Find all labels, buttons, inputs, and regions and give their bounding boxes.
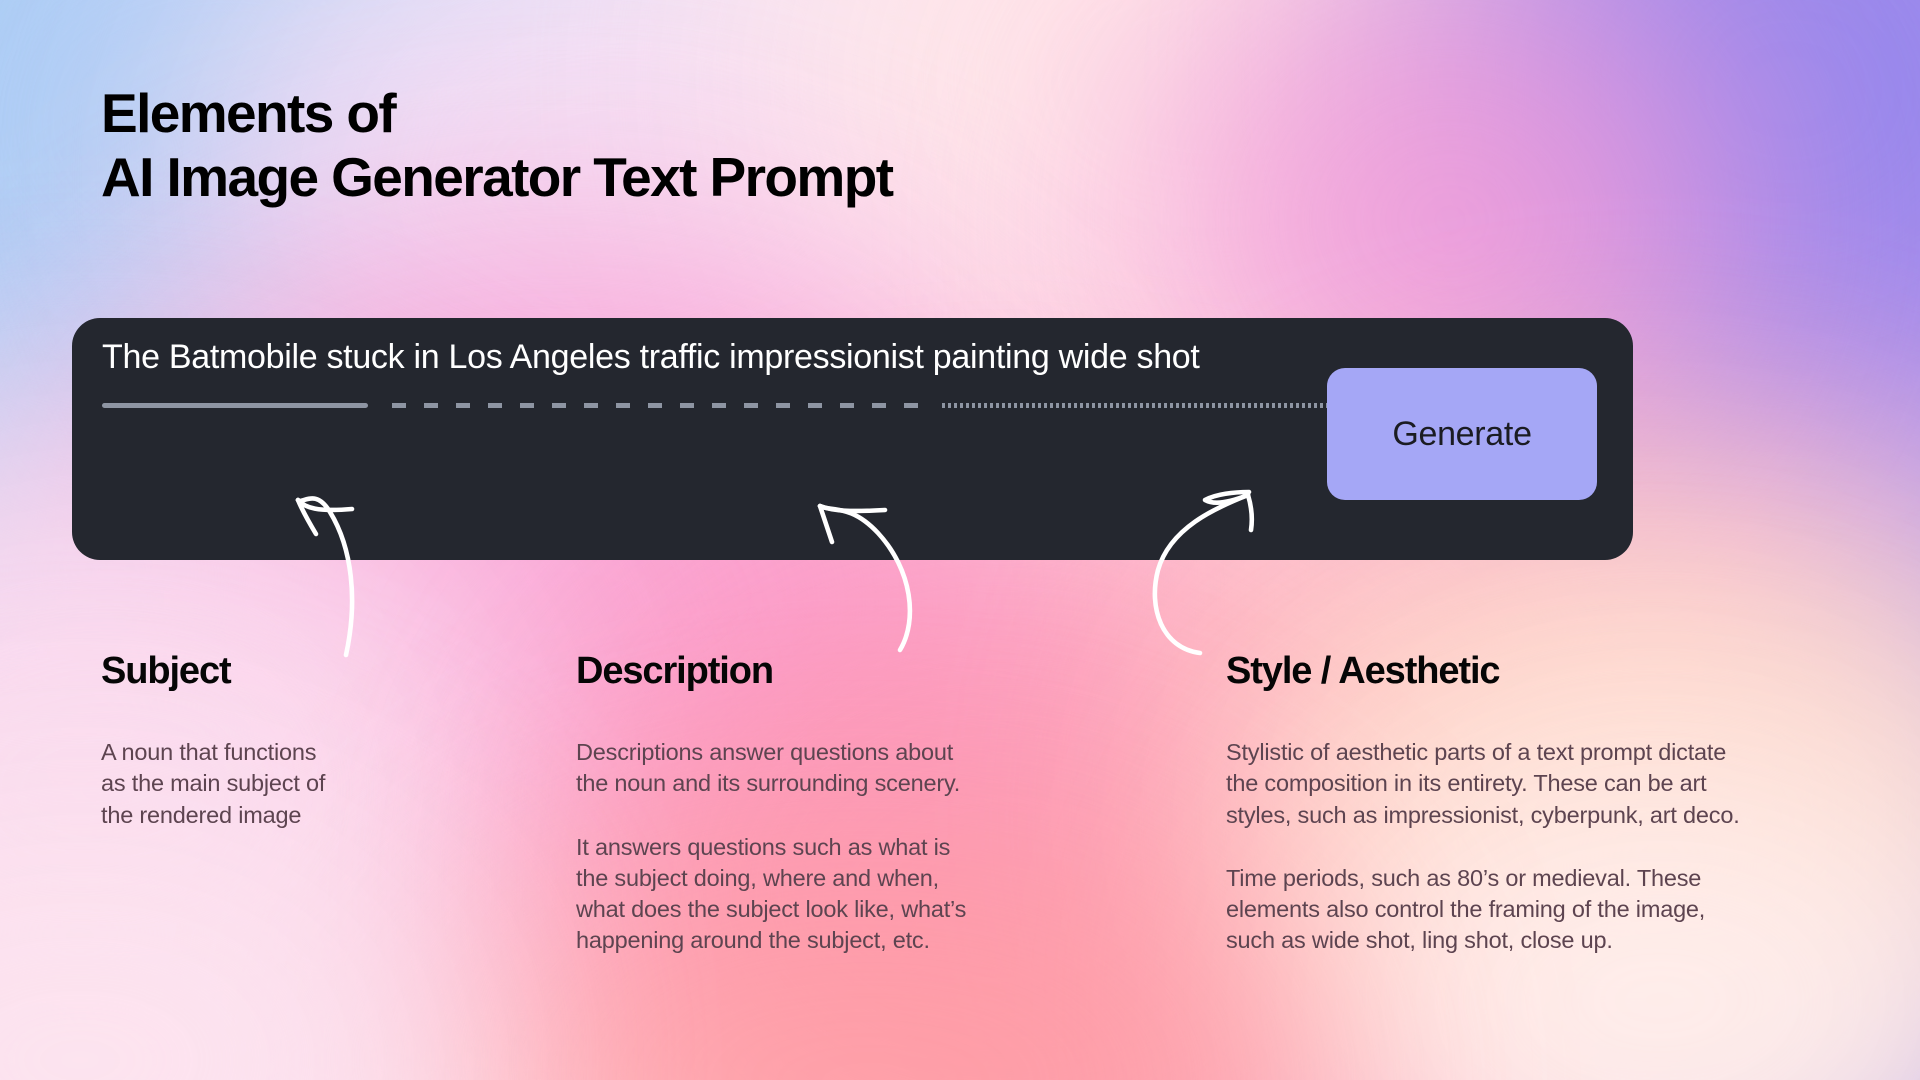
column-paragraph: It answers questions such as what is the…	[576, 832, 1056, 957]
column-paragraph: Time periods, such as 80’s or medieval. …	[1226, 863, 1856, 957]
generate-button[interactable]: Generate	[1327, 368, 1597, 500]
prompt-bar: The Batmobile stuck in Los Angeles traff…	[72, 318, 1633, 560]
column-paragraph: Descriptions answer questions about the …	[576, 737, 1056, 800]
underline-segment-subject	[102, 403, 368, 408]
column-title-description: Description	[576, 650, 1056, 693]
prompt-input[interactable]: The Batmobile stuck in Los Angeles traff…	[102, 338, 1200, 377]
column-subject: Subject A noun that functions as the mai…	[101, 650, 431, 831]
underline-segment-description	[392, 403, 922, 408]
prompt-segment-underlines	[102, 403, 1514, 411]
column-paragraph: Stylistic of aesthetic parts of a text p…	[1226, 737, 1856, 831]
column-description: Description Descriptions answer question…	[576, 650, 1056, 957]
column-paragraph: A noun that functions as the main subjec…	[101, 737, 431, 831]
column-title-style: Style / Aesthetic	[1226, 650, 1856, 693]
column-style-aesthetic: Style / Aesthetic Stylistic of aesthetic…	[1226, 650, 1856, 957]
page-title: Elements of AI Image Generator Text Prom…	[101, 82, 892, 210]
column-title-subject: Subject	[101, 650, 431, 693]
page-content: Elements of AI Image Generator Text Prom…	[0, 0, 1920, 1080]
